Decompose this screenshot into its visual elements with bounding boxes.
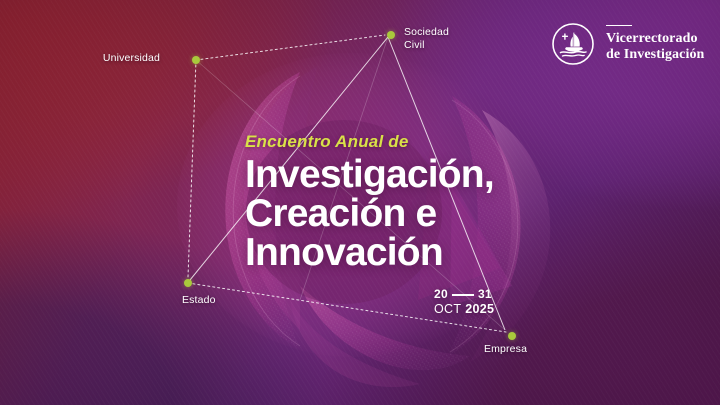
- node-label-estado: Estado: [182, 294, 216, 307]
- date-month: OCT: [434, 302, 461, 316]
- event-date: 20 31 OCT 2025: [434, 288, 494, 316]
- date-range-rule: [452, 294, 474, 296]
- date-day-end: 31: [478, 288, 492, 301]
- event-kicker: Encuentro Anual de: [245, 132, 575, 152]
- event-banner: Universidad Sociedad Civil Estado Empres…: [0, 0, 720, 405]
- node-label-empresa: Empresa: [484, 343, 527, 356]
- logo-divider-rule: [606, 25, 632, 27]
- event-title: Investigación, Creación e Innovación: [245, 155, 575, 272]
- event-title-line-1: Investigación,: [245, 155, 575, 194]
- date-day-start: 20: [434, 288, 448, 301]
- date-year: 2025: [465, 302, 494, 316]
- node-dot-estado[interactable]: [184, 279, 192, 287]
- title-block: Encuentro Anual de Investigación, Creaci…: [245, 132, 575, 272]
- node-dot-universidad[interactable]: [192, 56, 200, 64]
- node-dot-empresa[interactable]: [508, 332, 516, 340]
- event-title-line-2: Creación e: [245, 194, 575, 233]
- event-date-days: 20 31: [434, 288, 494, 301]
- event-title-line-3: Innovación: [245, 233, 575, 272]
- node-label-universidad: Universidad: [103, 52, 160, 65]
- node-label-sociedad-civil: Sociedad Civil: [404, 26, 449, 52]
- logo-text-group: Vicerrectorado de Investigación: [606, 25, 704, 64]
- event-date-month-year: OCT 2025: [434, 302, 494, 316]
- node-dot-sociedad-civil[interactable]: [387, 31, 395, 39]
- logo-name: Vicerrectorado de Investigación: [606, 31, 704, 63]
- ship-cross-emblem-icon: [551, 22, 595, 66]
- organization-logo[interactable]: Vicerrectorado de Investigación: [551, 22, 704, 66]
